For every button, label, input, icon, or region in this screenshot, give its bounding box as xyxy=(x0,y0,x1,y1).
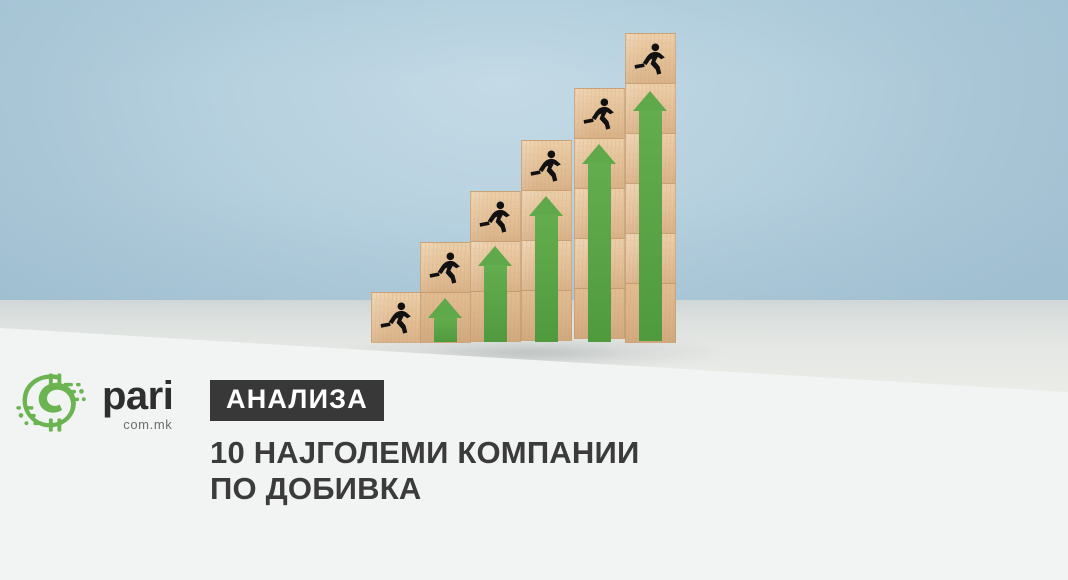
hero-photo xyxy=(0,0,1068,400)
green-up-arrow xyxy=(633,91,668,341)
running-man-icon xyxy=(580,94,618,132)
article-cover-image: pari com.mk АНАЛИЗА 10 НАЈГОЛЕМИ КОМПАНИ… xyxy=(0,0,1068,580)
green-up-arrow xyxy=(529,196,564,342)
block-column-1 xyxy=(371,292,422,343)
site-logo[interactable]: pari com.mk xyxy=(14,372,173,434)
running-man-icon xyxy=(377,298,415,336)
pari-dollar-s-logo-icon xyxy=(14,372,90,434)
green-up-arrow xyxy=(478,246,513,342)
logo-domain-text: com.mk xyxy=(123,418,172,431)
headline: 10 НАЈГОЛЕМИ КОМПАНИИ ПО ДОБИВКА xyxy=(210,435,639,507)
cover-footer: pari com.mk АНАЛИЗА 10 НАЈГОЛЕМИ КОМПАНИ… xyxy=(0,355,1068,580)
block-column-3 xyxy=(470,191,521,343)
green-up-arrow xyxy=(582,144,617,342)
block-column-5 xyxy=(574,88,625,343)
running-man-icon xyxy=(476,197,514,235)
block-column-4 xyxy=(521,140,572,343)
running-man-icon xyxy=(426,248,464,286)
green-up-arrow xyxy=(428,298,463,342)
block-column-6 xyxy=(625,33,676,343)
logo-brand-text: pari xyxy=(102,376,173,416)
running-man-icon xyxy=(527,146,565,184)
pari-wordmark: pari com.mk xyxy=(102,376,173,431)
block-column-2 xyxy=(420,242,471,343)
running-man-icon xyxy=(631,39,669,77)
category-badge[interactable]: АНАЛИЗА xyxy=(210,380,384,421)
